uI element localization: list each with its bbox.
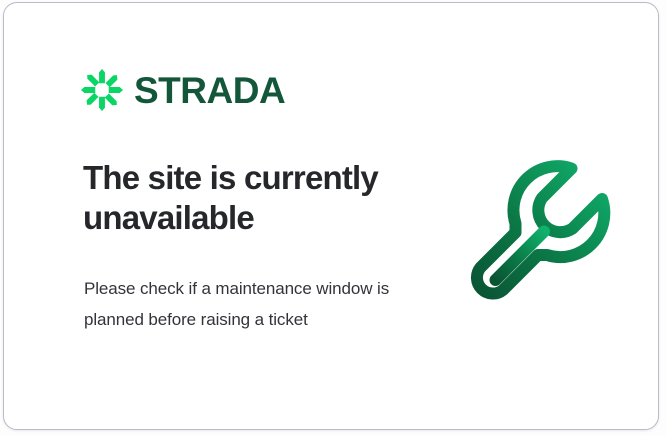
error-page-screen: STRADA The site is currently unavailable… [0, 0, 666, 436]
brand-lockup: STRADA [81, 69, 285, 111]
brand-name: STRADA [134, 72, 285, 109]
status-card: STRADA The site is currently unavailable… [3, 2, 659, 430]
page-title: The site is currently unavailable [83, 158, 413, 237]
strada-starburst-icon [81, 69, 123, 111]
page-description: Please check if a maintenance window is … [84, 273, 394, 335]
wrench-icon [459, 153, 615, 313]
